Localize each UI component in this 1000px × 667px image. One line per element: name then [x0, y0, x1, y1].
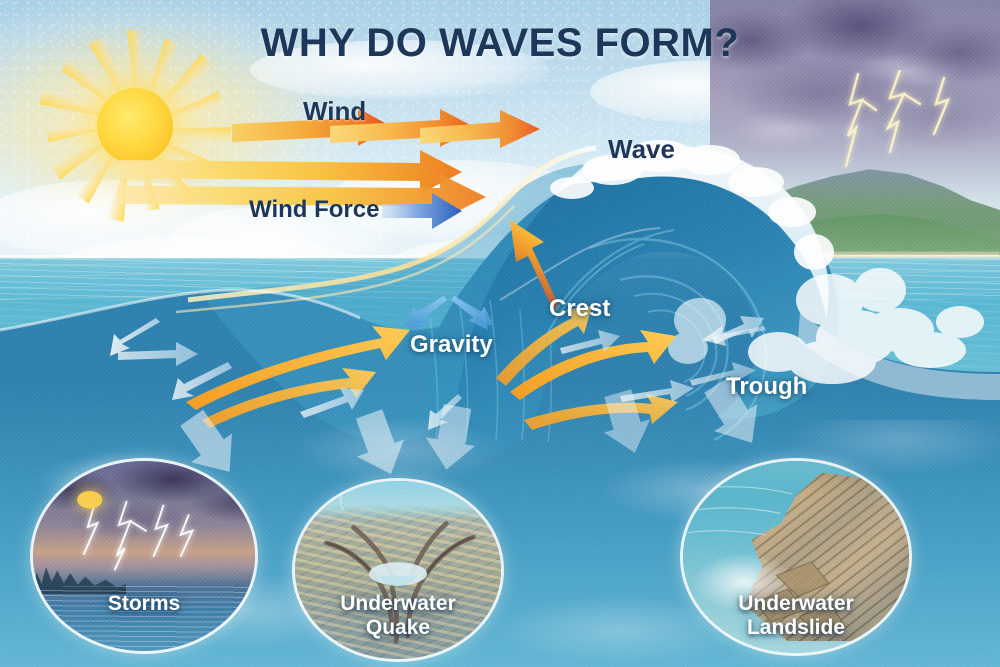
- cause-circle-underwater-landslide[interactable]: [680, 458, 912, 656]
- sliding-debris-icon: [683, 461, 909, 653]
- lightning-icon: [828, 70, 978, 180]
- label-gravity: Gravity: [410, 332, 493, 358]
- infographic-poster: Storms: [0, 0, 1000, 667]
- quake-scene-art: [295, 481, 501, 659]
- label-wind: Wind: [303, 97, 366, 125]
- storm-lightning-icon: [33, 461, 255, 651]
- seafloor-crack-icon: [295, 481, 501, 659]
- page-title: WHY DO WAVES FORM?: [0, 22, 1000, 65]
- cause-circle-storms[interactable]: [30, 458, 258, 654]
- sun-disc: [97, 88, 173, 164]
- label-trough: Trough: [726, 374, 807, 400]
- landslide-scene-art: [683, 461, 909, 653]
- label-wind-force: Wind Force: [249, 197, 379, 223]
- label-wave: Wave: [608, 135, 675, 163]
- storm-scene-art: [33, 461, 255, 651]
- label-crest: Crest: [549, 296, 610, 322]
- cause-circle-underwater-quake[interactable]: [292, 478, 504, 662]
